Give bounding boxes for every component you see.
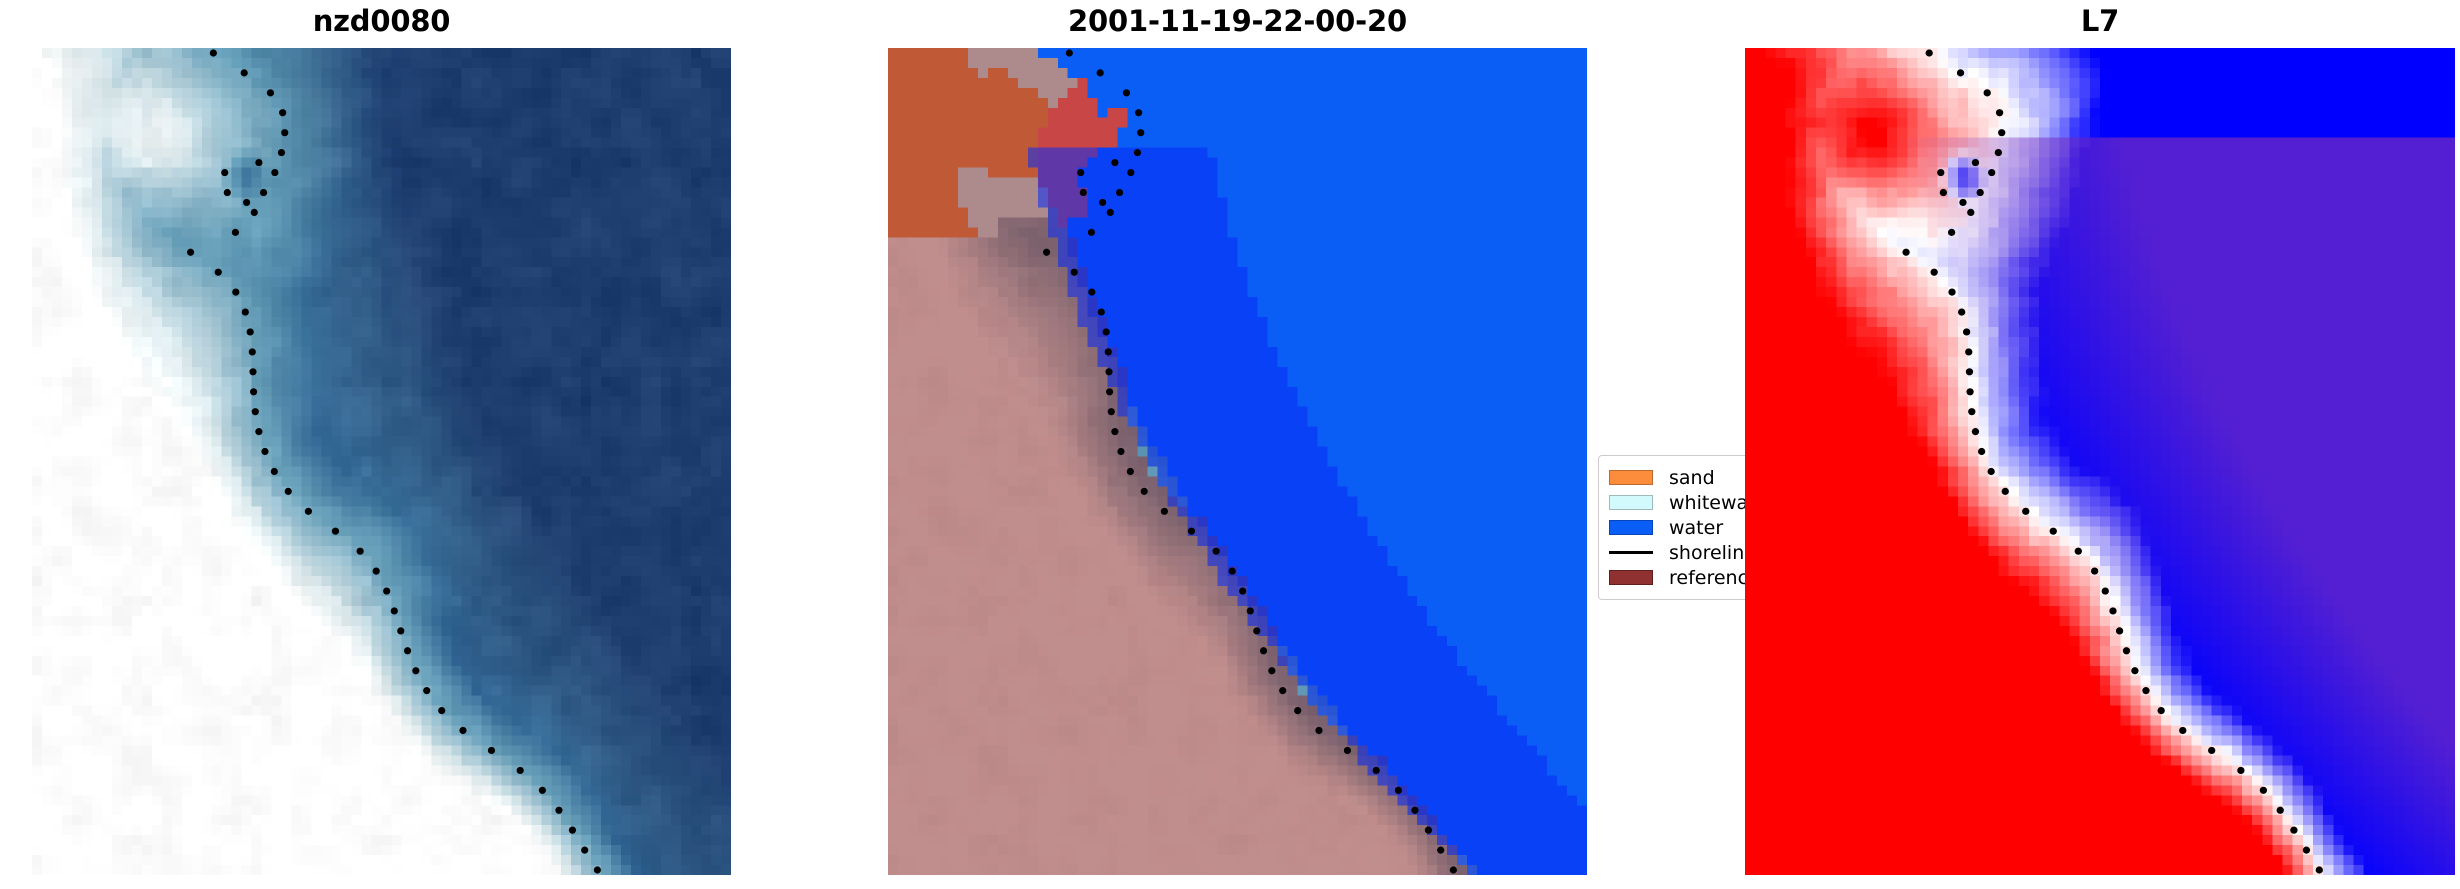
panel-index-title: L7 [1745,4,2455,38]
legend-label-water: water [1669,517,1723,539]
legend-swatch-whitewater-icon [1609,495,1653,510]
legend-swatch-shoreline-icon [1609,551,1653,554]
panel-rgb-title: nzd0080 [32,4,731,38]
panel-classification[interactable]: 2001-11-19-22-00-20 [888,48,1587,875]
index-raster [1745,48,2455,875]
panel-classification-title: 2001-11-19-22-00-20 [888,4,1587,38]
classification-raster [888,48,1587,875]
legend-item-sand[interactable]: sand [1609,465,1745,490]
legend-label-shoreline: shoreline [1669,542,1745,564]
legend-swatch-reference-icon [1609,570,1653,585]
panel-rgb[interactable]: nzd0080 [32,48,731,875]
legend-label-sand: sand [1669,467,1715,489]
legend-label-whitewater: whitewater [1669,492,1745,514]
legend[interactable]: sandwhitewaterwatershorelinereference [1598,455,1745,600]
legend-label-reference: reference [1669,567,1745,589]
legend-item-shoreline[interactable]: shoreline [1609,540,1745,565]
legend-item-water[interactable]: water [1609,515,1745,540]
legend-swatch-sand-icon [1609,470,1653,485]
figure-canvas: nzd0080 2001-11-19-22-00-20 L7 sandwhite… [0,0,2460,889]
legend-clip: sandwhitewaterwatershorelinereference [1590,440,1745,640]
legend-item-reference[interactable]: reference [1609,565,1745,590]
legend-swatch-water-icon [1609,520,1653,535]
legend-item-whitewater[interactable]: whitewater [1609,490,1745,515]
panel-index[interactable]: L7 [1745,48,2455,875]
rgb-raster [32,48,731,875]
